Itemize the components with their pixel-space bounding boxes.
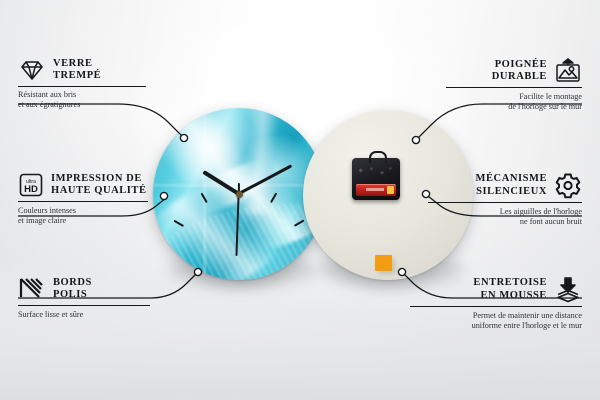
feature-title-line2: EN MOUSSE: [473, 290, 547, 302]
feature-verre-trempe: VERRE TREMPÉ Résistant aux bris et aux é…: [18, 58, 146, 110]
feature-sub-line2: ne font aucun bruit: [428, 217, 582, 227]
divider: [410, 306, 582, 307]
feature-sub-line2: uniforme entre l'horloge et le mur: [410, 321, 582, 331]
hanging-loop: [369, 151, 387, 163]
feature-mecanisme-silencieux: MÉCANISME SILENCIEUX Les aiguilles de l'…: [428, 172, 582, 227]
diamond-icon: [18, 58, 46, 82]
divider: [18, 201, 148, 202]
feature-title-line2: DURABLE: [492, 71, 547, 83]
feature-sub-line2: de l'horloge sur le mur: [446, 102, 582, 112]
product-infographic: VERRE TREMPÉ Résistant aux bris et aux é…: [0, 0, 600, 400]
divider: [18, 86, 146, 87]
clock-hub: [236, 191, 243, 198]
feature-title-line1: IMPRESSION DE: [51, 173, 147, 185]
clock-mechanism: [352, 158, 400, 200]
battery: [356, 184, 396, 196]
feature-sub-line1: Couleurs intenses: [18, 206, 148, 216]
gear-icon: [554, 172, 582, 199]
feature-title-line1: ENTRETOISE: [473, 277, 547, 289]
hour-tick: [303, 257, 314, 259]
ultra-hd-icon: ultra HD: [18, 172, 44, 198]
clock-front-view: [153, 108, 325, 280]
foam-spacer: [375, 255, 392, 271]
feature-title-line1: POIGNÉE: [492, 59, 547, 71]
feature-title-line2: POLIS: [53, 289, 92, 301]
mechanism-detail: [357, 164, 395, 180]
feature-title-line1: MÉCANISME: [476, 173, 547, 185]
feature-impression-haute-qualite: ultra HD IMPRESSION DE HAUTE QUALITÉ Cou…: [18, 172, 148, 226]
feature-sub-line2: et image claire: [18, 216, 148, 226]
battery-terminal: [387, 186, 394, 194]
feature-sub-line1: Facilite le montage: [446, 92, 582, 102]
feature-sub-line1: Surface lisse et sûre: [18, 310, 150, 320]
feature-title-line2: SILENCIEUX: [476, 186, 547, 198]
feature-header: BORDS POLIS: [18, 276, 150, 302]
feature-header: ENTRETOISE EN MOUSSE: [410, 276, 582, 303]
feature-title-line2: TREMPÉ: [53, 70, 101, 82]
feature-header: MÉCANISME SILENCIEUX: [428, 172, 582, 199]
divider: [428, 202, 582, 203]
battery-label-band: [366, 188, 384, 191]
feature-title-line1: BORDS: [53, 277, 92, 289]
foam-spacer-icon: [554, 276, 582, 303]
hour-tick: [164, 257, 175, 259]
feature-bords-polis: BORDS POLIS Surface lisse et sûre: [18, 276, 150, 320]
feature-header: ultra HD IMPRESSION DE HAUTE QUALITÉ: [18, 172, 148, 198]
polished-edges-icon: [18, 276, 46, 302]
svg-text:HD: HD: [24, 184, 38, 195]
feature-sub-line2: et aux égratignures: [18, 100, 146, 110]
feature-sub-line1: Les aiguilles de l'horloge: [428, 207, 582, 217]
feature-header: VERRE TREMPÉ: [18, 58, 146, 83]
divider: [18, 305, 150, 306]
feature-poignee-durable: POIGNÉE DURABLE Facilite le montage de l…: [446, 58, 582, 112]
feature-title-line2: HAUTE QUALITÉ: [51, 185, 147, 197]
feature-sub-line1: Résistant aux bris: [18, 90, 146, 100]
hanging-frame-icon: [554, 58, 582, 84]
feature-entretoise-en-mousse: ENTRETOISE EN MOUSSE Permet de maintenir…: [410, 276, 582, 331]
divider: [446, 87, 582, 88]
feature-header: POIGNÉE DURABLE: [446, 58, 582, 84]
feature-sub-line1: Permet de maintenir une distance: [410, 311, 582, 321]
feature-title-line1: VERRE: [53, 58, 101, 70]
